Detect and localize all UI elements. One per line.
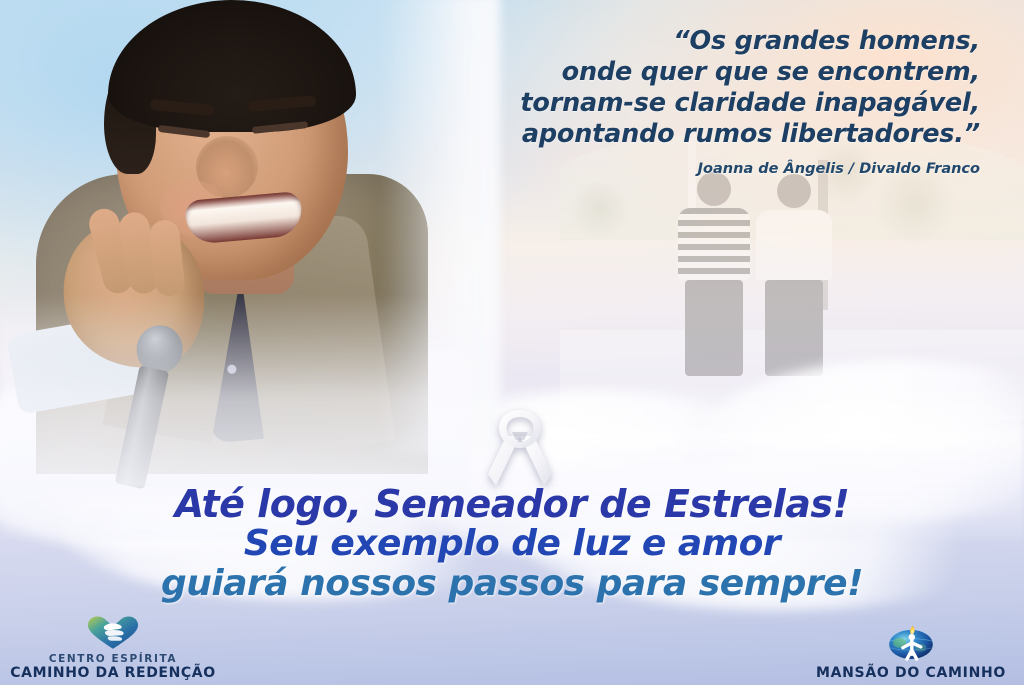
logo-right-line-1: MANSÃO DO CAMINHO bbox=[806, 665, 1016, 681]
headline-line-3: guiará nossos passos para sempre! bbox=[0, 564, 1024, 604]
hair bbox=[108, 0, 356, 132]
memorial-poster: “Os grandes homens, onde quer que se enc… bbox=[0, 0, 1024, 685]
headline-line-1: Até logo, Semeador de Estrelas! bbox=[0, 484, 1024, 524]
quote-line-4: apontando rumos libertadores.” bbox=[420, 119, 980, 150]
quote-author: Joanna de Ângelis / Divaldo Franco bbox=[420, 161, 980, 177]
logo-left-line-1: CENTRO ESPÍRITA bbox=[6, 653, 220, 665]
globe-with-figure-and-flame-icon bbox=[806, 625, 1016, 661]
headline-line-2: Seu exemplo de luz e amor bbox=[0, 524, 1024, 564]
heart-with-hands-icon bbox=[6, 615, 220, 651]
quote-line-2: onde quer que se encontrem, bbox=[420, 57, 980, 88]
background-fence bbox=[874, 332, 1004, 372]
palm-foliage-icon bbox=[570, 180, 630, 240]
logo-mansao-do-caminho[interactable]: MANSÃO DO CAMINHO bbox=[806, 625, 1016, 681]
headline-block: Até logo, Semeador de Estrelas! Seu exem… bbox=[0, 484, 1024, 604]
person-striped-shirt bbox=[678, 172, 750, 376]
white-mourning-ribbon-icon bbox=[486, 408, 554, 488]
logo-centro-espirita-caminho-da-redencao[interactable]: CENTRO ESPÍRITA CAMINHO DA REDENÇÃO bbox=[6, 615, 220, 681]
person-white-shirt bbox=[756, 174, 832, 376]
logo-left-line-2: CAMINHO DA REDENÇÃO bbox=[6, 665, 220, 681]
quote-block: “Os grandes homens, onde quer que se enc… bbox=[420, 26, 980, 177]
quote-line-3: tornam-se claridade inapagável, bbox=[420, 88, 980, 119]
quote-line-1: “Os grandes homens, bbox=[420, 26, 980, 57]
smiling-man-portrait bbox=[0, 0, 430, 464]
